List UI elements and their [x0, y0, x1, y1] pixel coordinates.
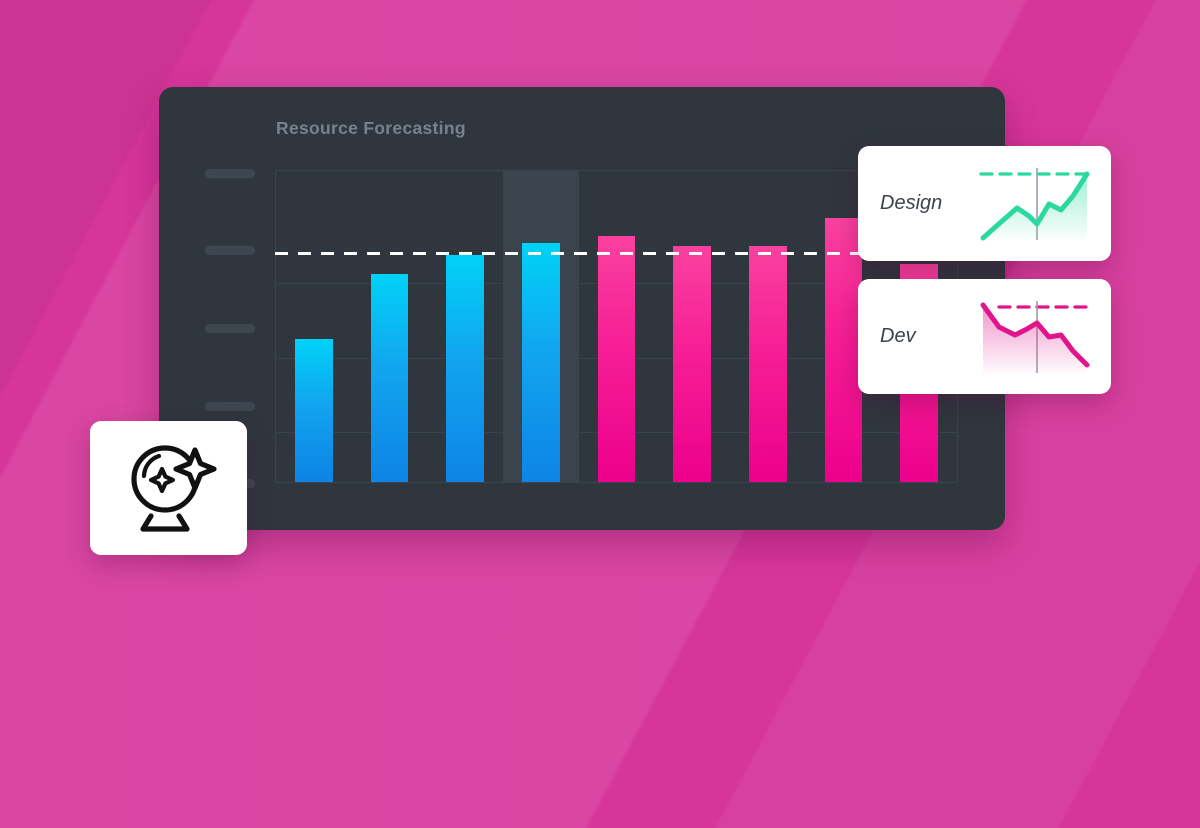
- skeleton-label-1: [205, 169, 255, 178]
- bar-actual-3[interactable]: [446, 255, 484, 482]
- bar-actual-4[interactable]: [522, 243, 560, 482]
- page-title: Resource Forecasting: [276, 118, 466, 139]
- bar-forecast-5[interactable]: [598, 236, 636, 482]
- card-design-label: Design: [880, 192, 942, 215]
- dev-sparkline-icon: [975, 293, 1095, 386]
- bar-forecast-8[interactable]: [825, 218, 863, 482]
- bar-actual-2[interactable]: [371, 274, 409, 482]
- crystal-ball-tile[interactable]: [90, 421, 247, 555]
- bar-forecast-7[interactable]: [749, 246, 787, 482]
- bar-actual-1[interactable]: [295, 339, 333, 482]
- crystal-ball-icon: [117, 434, 221, 543]
- skeleton-label-3: [205, 324, 255, 333]
- threshold-line: [275, 252, 958, 255]
- card-dev[interactable]: Dev: [858, 279, 1111, 394]
- design-sparkline-icon: [975, 160, 1095, 253]
- card-design[interactable]: Design: [858, 146, 1111, 261]
- card-dev-label: Dev: [880, 325, 916, 348]
- bar-forecast-6[interactable]: [673, 246, 711, 482]
- bar-chart-plot: [275, 170, 958, 483]
- skeleton-label-4: [205, 402, 255, 411]
- skeleton-label-2: [205, 246, 255, 255]
